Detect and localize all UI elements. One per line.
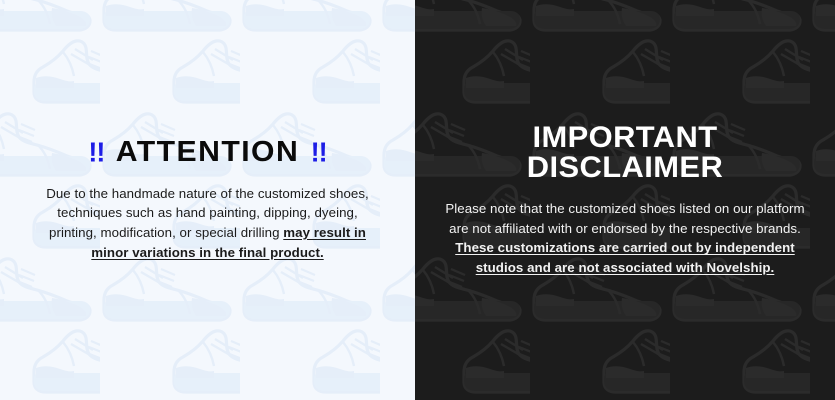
disclaimer-content: IMPORTANT DISCLAIMER Please note that th… xyxy=(415,123,835,278)
attention-content: !! ATTENTION !! Due to the handmade natu… xyxy=(0,138,415,263)
disclaimer-heading-line-1: IMPORTANT xyxy=(435,123,814,154)
attention-heading-text: ATTENTION xyxy=(116,138,299,167)
disclaimer-body-text: Please note that the customized shoes li… xyxy=(445,201,804,236)
disclaimer-body-emphasis: These customizations are carried out by … xyxy=(455,240,794,275)
disclaimer-panel: IMPORTANT DISCLAIMER Please note that th… xyxy=(415,0,835,400)
attention-body: Due to the handmade nature of the custom… xyxy=(34,184,381,263)
disclaimer-body: Please note that the customized shoes li… xyxy=(441,199,809,277)
attention-panel: !! ATTENTION !! Due to the handmade natu… xyxy=(0,0,415,400)
exclamation-right-icon: !! xyxy=(311,139,327,166)
disclaimer-heading: IMPORTANT DISCLAIMER xyxy=(435,123,814,185)
exclamation-left-icon: !! xyxy=(88,139,104,166)
disclaimer-heading-line-2: DISCLAIMER xyxy=(435,153,814,184)
disclaimer-banner: !! ATTENTION !! Due to the handmade natu… xyxy=(0,0,835,400)
attention-heading: !! ATTENTION !! xyxy=(27,138,388,167)
